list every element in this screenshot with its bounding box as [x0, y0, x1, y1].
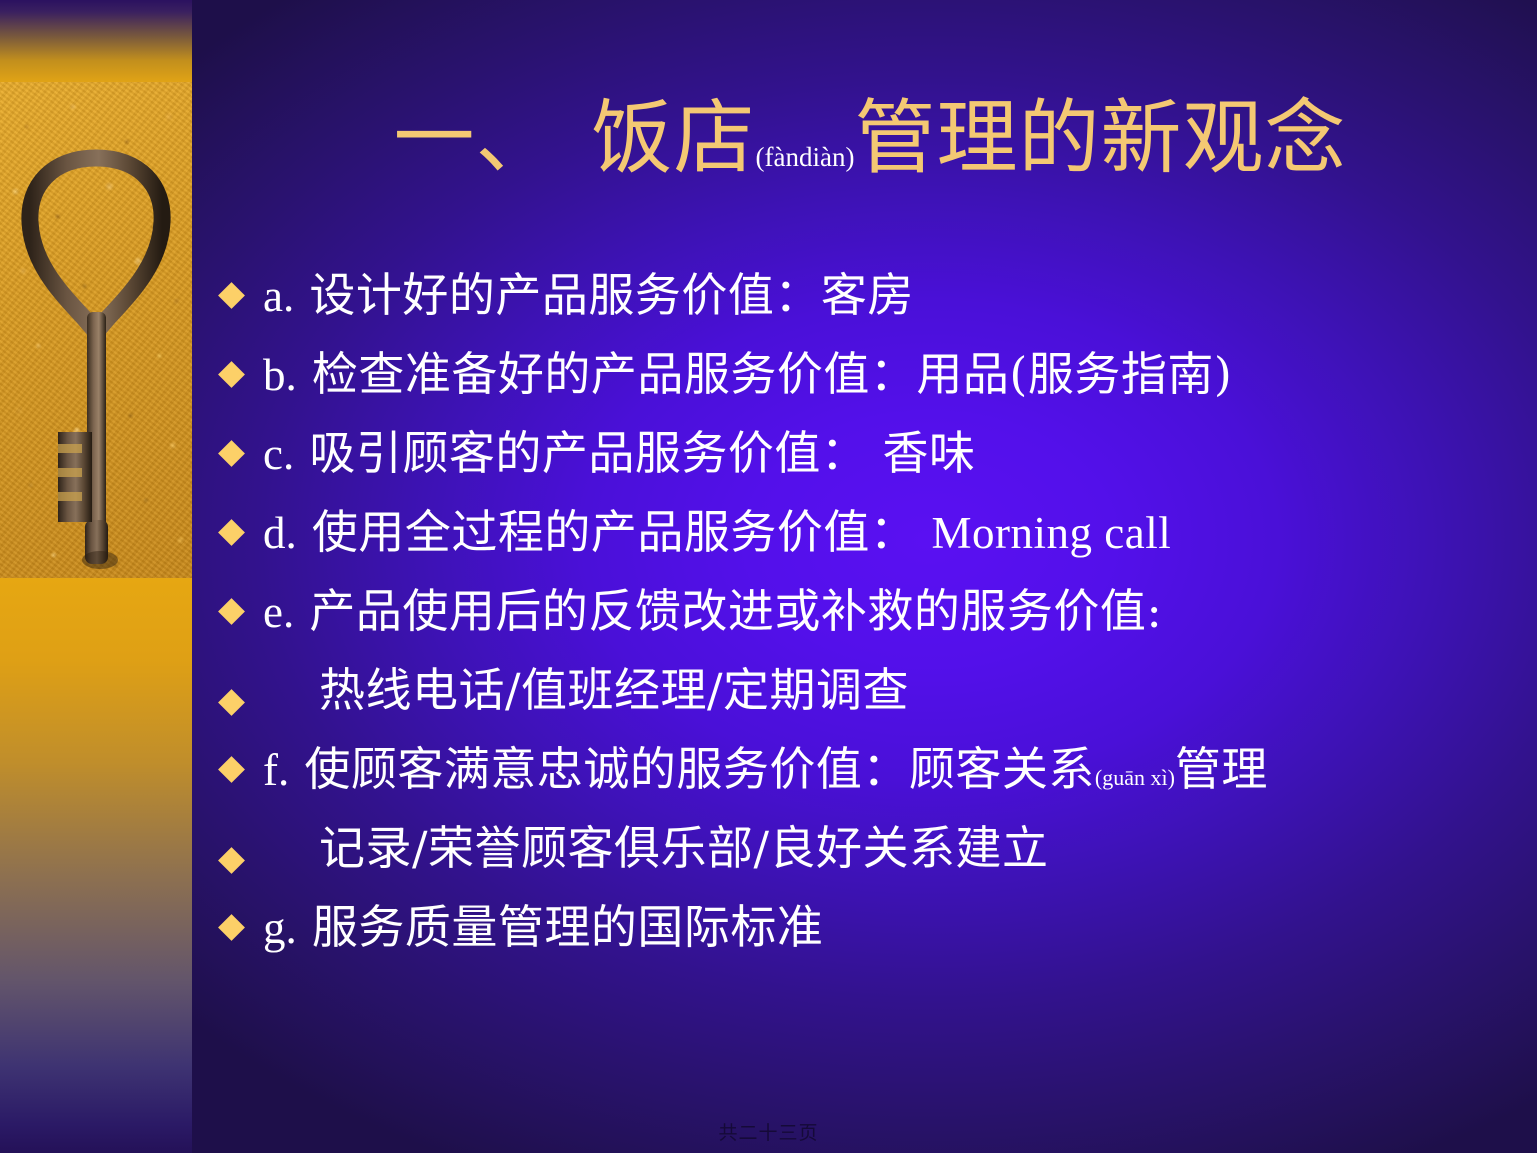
diamond-bullet-icon: [218, 847, 245, 874]
title-term: 饭店: [592, 92, 756, 186]
list-item-latin: Morning call: [932, 508, 1172, 558]
list-item-label: b.: [263, 350, 297, 400]
list-item-label: e.: [263, 587, 294, 637]
list-item-body: 设计好的产品服务价值：客房: [309, 268, 914, 322]
list-item-body: 服务质量管理的国际标准: [312, 900, 824, 954]
slide-title: 一、饭店(fàndiàn)管理的新观念: [225, 96, 1515, 183]
list-item: e. 产品使用后的反馈改进或补救的服务价值:: [222, 588, 1522, 667]
title-suffix: 管理的新观念: [854, 92, 1346, 186]
list-item-label: f.: [263, 745, 289, 795]
page-footer: 共二十三页: [0, 1118, 1537, 1145]
diamond-bullet-icon: [218, 361, 245, 388]
sidebar-decoration: [0, 0, 192, 1153]
list-item-text: g. 服务质量管理的国际标准: [263, 904, 823, 951]
list-item: g. 服务质量管理的国际标准: [222, 904, 1522, 983]
diamond-bullet-icon: [218, 440, 245, 467]
diamond-bullet-icon: [218, 598, 245, 625]
list-item-text: d. 使用全过程的产品服务价值： Morning call: [263, 509, 1171, 556]
list-item-text: a. 设计好的产品服务价值：客房: [263, 272, 914, 319]
list-item-body: 使用全过程的产品服务价值：: [312, 505, 917, 559]
list-item-text: b. 检查准备好的产品服务价值：用品(服务指南): [263, 351, 1232, 398]
list-item-body: 吸引顾客的产品服务价值： 香味: [309, 426, 975, 480]
list-item-text: c. 吸引顾客的产品服务价值： 香味: [263, 430, 975, 477]
diamond-bullet-icon: [218, 756, 245, 783]
diamond-bullet-icon: [218, 282, 245, 309]
bullet-list: a. 设计好的产品服务价值：客房 b. 检查准备好的产品服务价值：用品(服务指南…: [222, 272, 1522, 983]
list-item: a. 设计好的产品服务价值：客房: [222, 272, 1522, 351]
list-item: 热线电话/值班经理/定期调查: [222, 667, 1522, 746]
list-item-pinyin: (guān xì): [1095, 765, 1175, 790]
diamond-bullet-icon: [218, 689, 245, 716]
title-prefix: 一、: [394, 92, 558, 186]
list-item-body: 检查准备好的产品服务价值：用品(服务指南): [312, 347, 1232, 401]
list-item: b. 检查准备好的产品服务价值：用品(服务指南): [222, 351, 1522, 430]
list-item-text: e. 产品使用后的反馈改进或补救的服务价值:: [263, 588, 1162, 635]
list-item-body: 热线电话/值班经理/定期调查: [319, 663, 909, 717]
list-item-text: 记录/荣誉顾客俱乐部/良好关系建立: [263, 825, 1049, 871]
list-item-label: c.: [263, 429, 294, 479]
title-pinyin: (fàndiàn): [756, 142, 855, 172]
diamond-bullet-icon: [218, 519, 245, 546]
list-item-label: g.: [263, 903, 297, 953]
list-item-text: 热线电话/值班经理/定期调查: [263, 667, 909, 713]
diamond-bullet-icon: [218, 914, 245, 941]
list-item: d. 使用全过程的产品服务价值： Morning call: [222, 509, 1522, 588]
slide-canvas: 一、饭店(fàndiàn)管理的新观念 a. 设计好的产品服务价值：客房 b. …: [0, 0, 1537, 1153]
list-item: f. 使顾客满意忠诚的服务价值：顾客关系(guān xì)管理: [222, 746, 1522, 825]
list-item-body: 产品使用后的反馈改进或补救的服务价值:: [309, 584, 1162, 638]
iron-key-icon: [0, 0, 192, 1153]
list-item-body-tail: 管理: [1175, 742, 1268, 796]
list-item-body: 使顾客满意忠诚的服务价值：顾客关系: [304, 742, 1095, 796]
list-item-label: a.: [263, 271, 294, 321]
list-item-label: d.: [263, 508, 297, 558]
list-item-body: 记录/荣誉顾客俱乐部/良好关系建立: [319, 821, 1049, 875]
list-item: 记录/荣誉顾客俱乐部/良好关系建立: [222, 825, 1522, 904]
list-item-text: f. 使顾客满意忠诚的服务价值：顾客关系(guān xì)管理: [263, 746, 1268, 793]
list-item: c. 吸引顾客的产品服务价值： 香味: [222, 430, 1522, 509]
